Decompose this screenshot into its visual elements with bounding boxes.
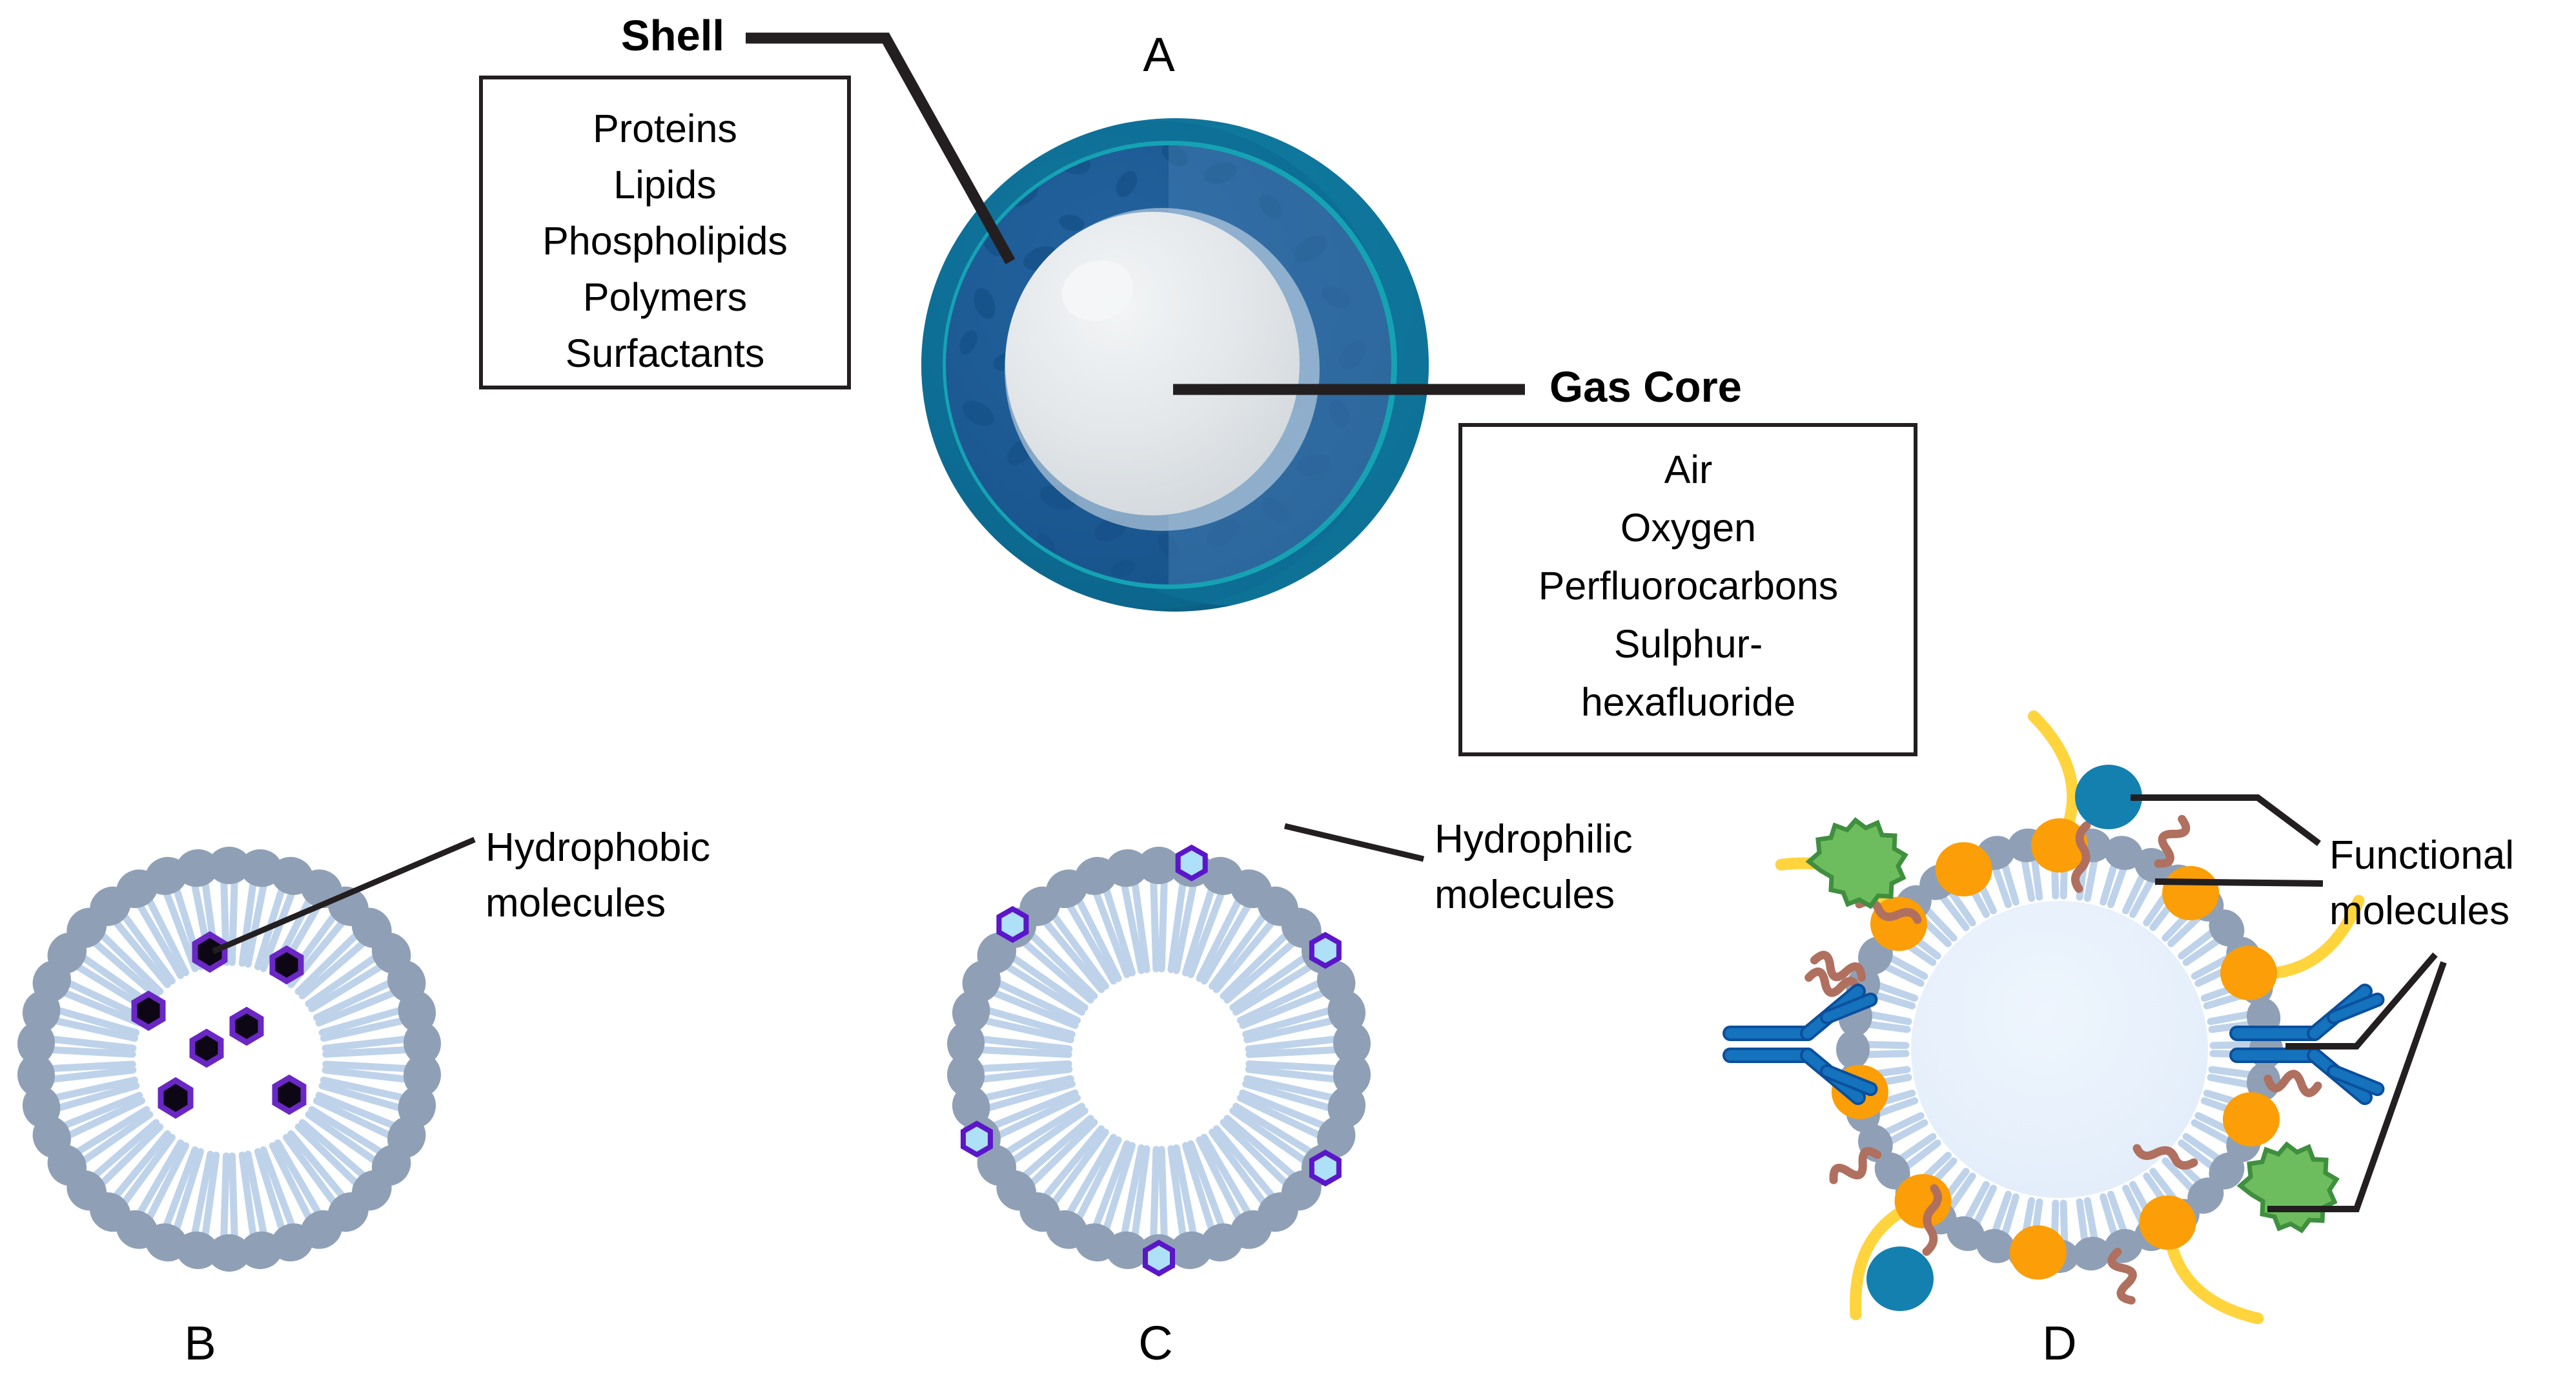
hydrophilic-label-line2: molecules xyxy=(1435,873,1615,917)
orange-anchor-node xyxy=(2223,1092,2280,1146)
lipid-tail xyxy=(1153,874,1156,969)
lipid-tail xyxy=(2212,1070,2250,1075)
hydrophilic-molecule xyxy=(999,909,1026,940)
hexagon-shape xyxy=(1312,935,1339,966)
lipid-tail xyxy=(2213,1044,2252,1046)
scientific-figure: A xyxy=(0,0,2576,1375)
orange-anchor-node xyxy=(2162,866,2219,920)
gas-core-callout-title: Gas Core xyxy=(1549,363,1742,411)
lipid-tail xyxy=(326,1049,414,1054)
hydrophobic-molecule xyxy=(272,949,301,981)
lipid-tail xyxy=(1153,1150,1156,1244)
lipid-tail xyxy=(2080,1202,2085,1240)
hydrophobic-label-line1: Hydrophobic xyxy=(486,825,710,870)
hydrophilic-molecule xyxy=(1178,847,1205,878)
shell-item-3: Polymers xyxy=(583,275,747,319)
functional-leader-middle xyxy=(2155,882,2323,884)
gas-core-item-3: Sulphur- xyxy=(1614,622,1763,666)
teal-ligand-ball xyxy=(1866,1246,1934,1311)
lipid-tail xyxy=(1869,1024,1907,1029)
lipid-tail xyxy=(1867,1053,1906,1055)
hexagon-shape xyxy=(1178,847,1205,878)
lipid-tail xyxy=(2034,859,2039,897)
hydrophobic-label-line2: molecules xyxy=(486,881,666,925)
lipid-tail xyxy=(45,1064,132,1069)
gas-core-item-1: Oxygen xyxy=(1620,506,1756,550)
panel-label-d: D xyxy=(2042,1316,2076,1370)
functional-label-line2: molecules xyxy=(2329,889,2510,933)
hexagon-shape xyxy=(999,909,1026,940)
hydrophilic-molecule xyxy=(963,1124,990,1155)
shell-item-0: Proteins xyxy=(593,107,737,150)
hydrophilic-molecule xyxy=(1145,1243,1172,1274)
hexagon-shape xyxy=(1312,1152,1339,1183)
panel-label-a: A xyxy=(1143,28,1175,81)
functional-label-line1: Functional xyxy=(2329,833,2514,878)
hydrophilic-label-line1: Hydrophilic xyxy=(1435,817,1633,862)
gas-core xyxy=(1005,212,1300,515)
lipid-tail xyxy=(974,1064,1068,1069)
hydrophobic-molecule xyxy=(275,1078,303,1111)
lipid-tail xyxy=(232,874,234,962)
orange-anchor-node xyxy=(2139,1195,2196,1250)
gas-core-item-0: Air xyxy=(1664,448,1713,491)
figure-canvas: A xyxy=(0,0,2576,1375)
gas-core-item-4: hexafluoride xyxy=(1581,680,1795,724)
hydrophobic-molecule xyxy=(192,1032,221,1064)
lipid-tail xyxy=(1867,1044,1906,1046)
shell-item-2: Phospholipids xyxy=(542,219,788,263)
shell-item-1: Lipids xyxy=(613,163,716,207)
lipid-tail xyxy=(1161,1150,1164,1244)
orange-anchor-node xyxy=(2010,1225,2067,1279)
shell-item-4: Surfactants xyxy=(566,331,765,375)
hydrophobic-molecule xyxy=(161,1080,190,1115)
hexagon-shape xyxy=(1145,1243,1172,1274)
lipid-tail xyxy=(1249,1049,1344,1055)
lipid-tail xyxy=(2063,1203,2065,1242)
orange-anchor-node xyxy=(1936,842,1992,896)
hydrophobic-molecule xyxy=(134,994,163,1028)
hydrophilic-molecule xyxy=(1312,935,1339,966)
shell-callout-title: Shell xyxy=(621,12,724,60)
hexagon-shape xyxy=(963,1124,990,1155)
gas-core-item-2: Perfluorocarbons xyxy=(1538,564,1839,608)
lipid-tail xyxy=(223,1156,226,1244)
lipid-tail xyxy=(232,1156,234,1244)
hydrophobic-molecule xyxy=(195,935,225,969)
hydrophilic-molecule xyxy=(1312,1152,1339,1183)
panel-label-b: B xyxy=(184,1316,216,1370)
panel-label-c: C xyxy=(1138,1316,1172,1370)
lipid-tail xyxy=(1161,874,1164,969)
orange-anchor-node xyxy=(2220,946,2277,1000)
hydrophobic-molecule xyxy=(232,1010,261,1042)
